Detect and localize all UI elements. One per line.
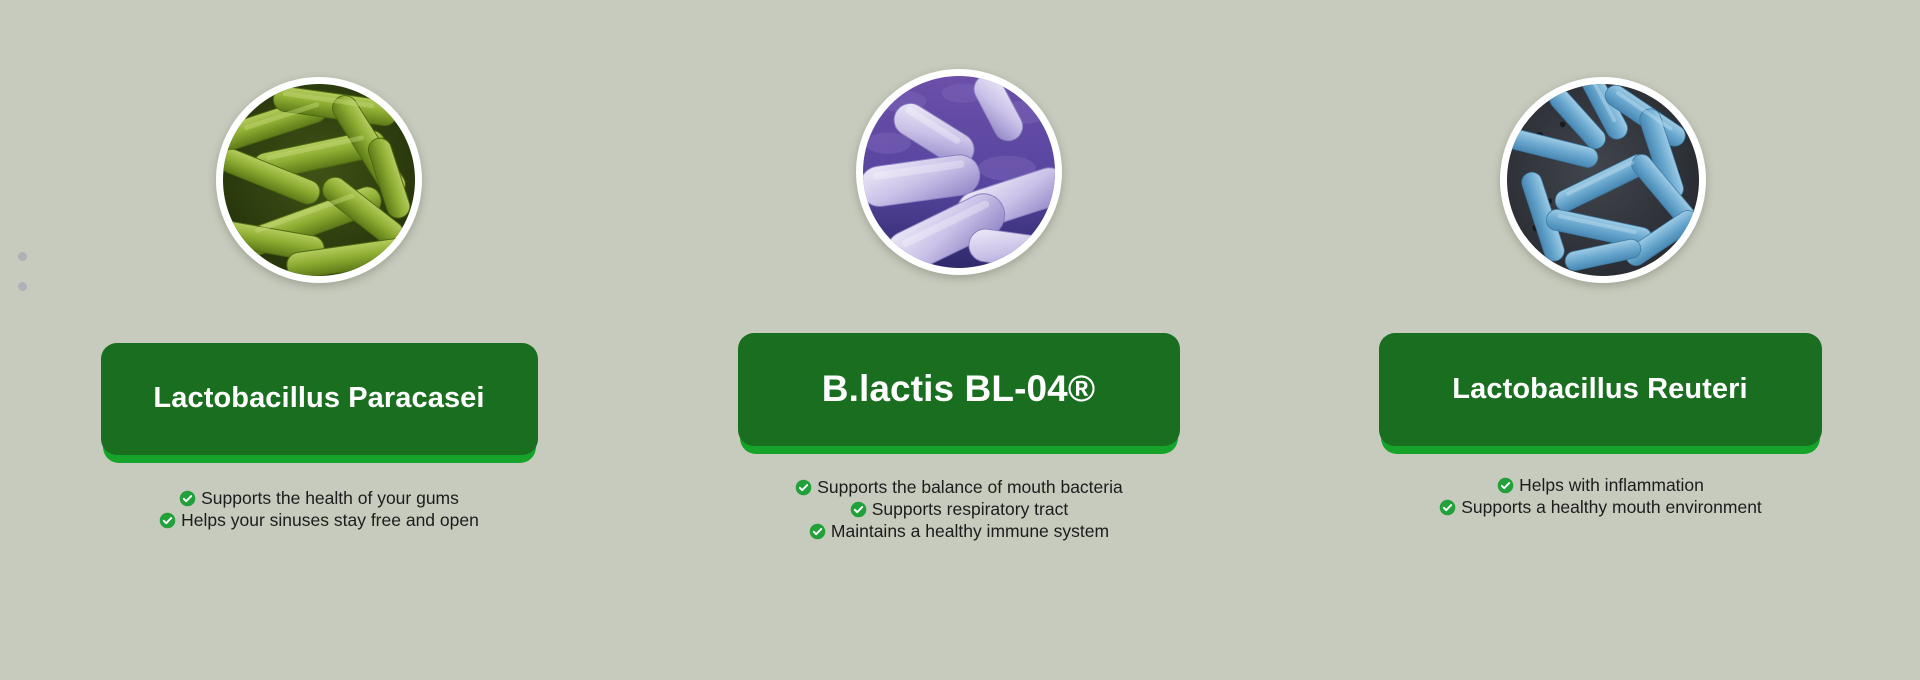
- check-circle-icon: [1497, 477, 1514, 494]
- carousel-dots[interactable]: [18, 252, 27, 291]
- benefit-text: Supports the health of your gums: [201, 488, 459, 508]
- check-circle-icon: [159, 512, 176, 529]
- benefit-text: Supports the balance of mouth bacteria: [817, 477, 1122, 497]
- benefit-item: Helps your sinuses stay free and open: [159, 509, 479, 531]
- benefit-list-paracasei: Supports the health of your gums Helps y…: [159, 487, 479, 531]
- strain-card-paracasei[interactable]: Lactobacillus Paracasei Supports the hea…: [0, 0, 640, 680]
- benefit-item: Supports a healthy mouth environment: [1439, 496, 1762, 518]
- micrograph-blue: [1507, 84, 1699, 276]
- benefit-list-reuteri: Helps with inflammation Supports a healt…: [1439, 474, 1762, 518]
- strain-title-paracasei: Lactobacillus Paracasei: [101, 343, 538, 455]
- benefit-item: Supports respiratory tract: [795, 498, 1122, 520]
- check-circle-icon: [809, 523, 826, 540]
- benefit-item: Helps with inflammation: [1439, 474, 1762, 496]
- strain-image-blactis: [856, 69, 1062, 275]
- benefit-item: Maintains a healthy immune system: [795, 520, 1122, 542]
- strain-image-paracasei: [216, 77, 422, 283]
- benefit-text: Maintains a healthy immune system: [831, 521, 1109, 541]
- benefit-text: Supports a healthy mouth environment: [1461, 497, 1762, 517]
- strain-name-pill-blactis[interactable]: B.lactis BL-04®: [738, 333, 1180, 446]
- carousel-dot-1[interactable]: [18, 252, 27, 261]
- strain-name-pill-paracasei[interactable]: Lactobacillus Paracasei: [101, 343, 538, 455]
- benefit-item: Supports the balance of mouth bacteria: [795, 476, 1122, 498]
- strain-card-blactis[interactable]: B.lactis BL-04® Supports the balance of …: [640, 0, 1280, 680]
- benefit-item: Supports the health of your gums: [159, 487, 479, 509]
- benefit-list-blactis: Supports the balance of mouth bacteria S…: [795, 476, 1122, 543]
- strain-name-pill-reuteri[interactable]: Lactobacillus Reuteri: [1379, 333, 1822, 446]
- strain-image-reuteri: [1500, 77, 1706, 283]
- strain-title-blactis: B.lactis BL-04®: [738, 333, 1180, 446]
- carousel-dot-2[interactable]: [18, 282, 27, 291]
- benefit-text: Supports respiratory tract: [872, 499, 1068, 519]
- benefit-text: Helps with inflammation: [1519, 475, 1704, 495]
- check-circle-icon: [795, 479, 812, 496]
- check-circle-icon: [1439, 499, 1456, 516]
- strain-card-reuteri[interactable]: Lactobacillus Reuteri Helps with inflamm…: [1280, 0, 1920, 680]
- check-circle-icon: [179, 490, 196, 507]
- probiotic-strain-strip: Lactobacillus Paracasei Supports the hea…: [0, 0, 1920, 680]
- micrograph-purple: [863, 76, 1055, 268]
- strain-title-reuteri: Lactobacillus Reuteri: [1379, 333, 1822, 446]
- micrograph-green: [223, 84, 415, 276]
- benefit-text: Helps your sinuses stay free and open: [181, 510, 479, 530]
- check-circle-icon: [850, 501, 867, 518]
